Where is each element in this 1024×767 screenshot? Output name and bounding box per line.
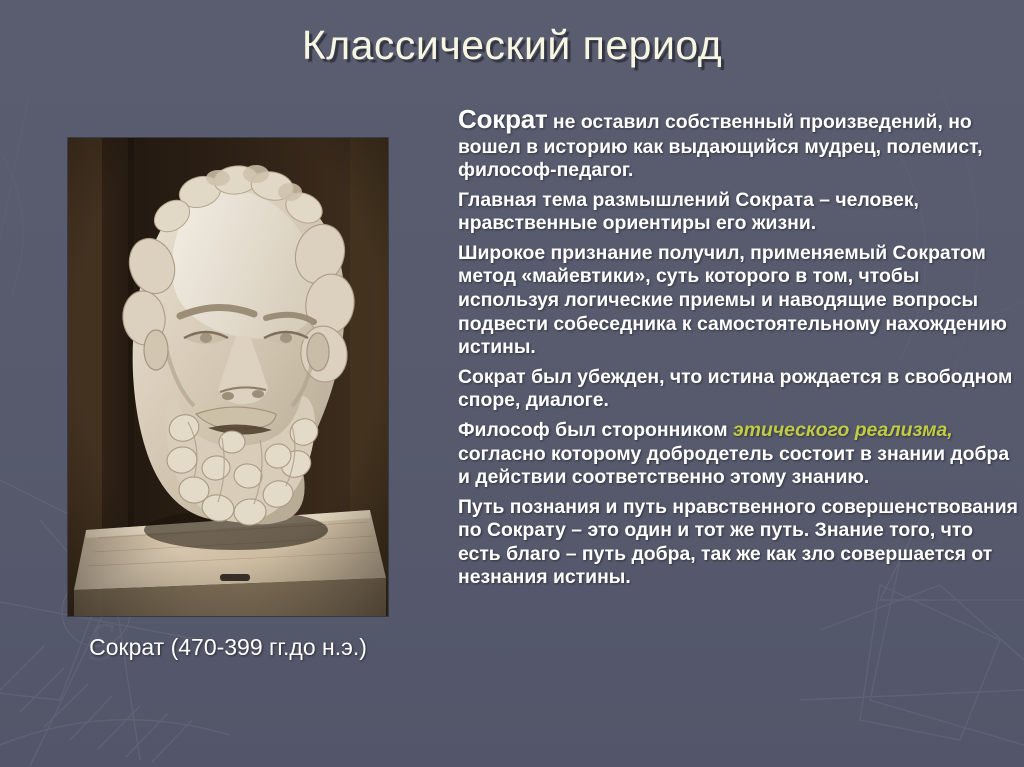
paragraph-5-before: Философ был сторонником <box>458 419 733 441</box>
slide-root: Классический период <box>0 0 1024 767</box>
page-title: Классический период <box>0 22 1024 69</box>
paragraph-5: Философ был сторонником этического реали… <box>458 419 1018 490</box>
portrait-caption: Сократ (470-399 гг.до н.э.) <box>68 634 388 661</box>
paragraph-2: Главная тема размышлений Сократа – челов… <box>458 189 1018 236</box>
paragraph-3: Широкое признание получил, применяемый С… <box>458 242 1018 360</box>
body-text-column: Сократ не оставил собственный произведен… <box>458 104 1018 596</box>
ethical-realism-highlight: этического реализма, <box>733 419 953 441</box>
paragraph-4: Сократ был убежден, что истина рождается… <box>458 366 1018 413</box>
portrait-block: Сократ (470-399 гг.до н.э.) <box>68 138 388 661</box>
socrates-bust-image <box>68 138 388 616</box>
paragraph-6: Путь познания и путь нравственного совер… <box>458 496 1018 590</box>
paragraph-5-after: согласно которому добродетель состоит в … <box>458 443 1009 489</box>
paragraph-1: Сократ не оставил собственный произведен… <box>458 104 1018 183</box>
paragraph-1-lead: Сократ <box>458 104 548 134</box>
